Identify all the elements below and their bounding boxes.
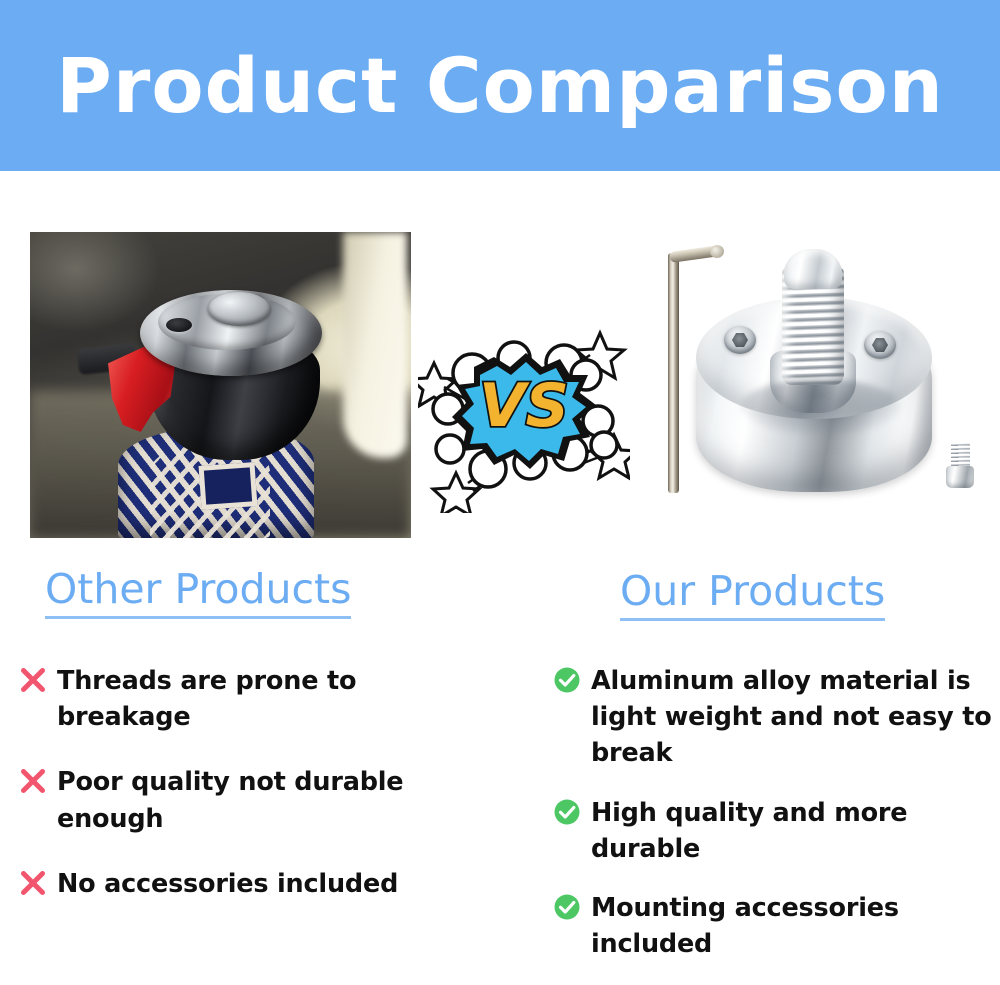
list-item: Aluminum alloy material is light weight … (552, 663, 1000, 772)
page-title: Product Comparison (56, 48, 944, 124)
vs-badge-label: VS (479, 371, 569, 441)
our-products-heading: Our Products (620, 571, 885, 621)
other-products-list: Threads are prone to breakage Poor quali… (18, 663, 488, 931)
mounting-bolt-head (946, 466, 974, 488)
cross-icon (18, 665, 48, 695)
list-item-label: Mounting accessories included (591, 890, 1000, 962)
check-icon (552, 892, 582, 922)
list-item-label: No accessories included (57, 866, 398, 902)
knob-top-button (208, 292, 270, 326)
list-item-label: High quality and more durable (591, 795, 1000, 867)
cloth-diamond-motif (199, 462, 258, 510)
allen-key-long-arm (668, 253, 679, 493)
list-item: Threads are prone to breakage (18, 663, 488, 735)
cross-icon (18, 766, 48, 796)
other-product-photo (30, 232, 411, 538)
other-products-heading: Other Products (45, 569, 351, 619)
hex-socket-screw-left (724, 326, 756, 354)
knob-screw-recess (166, 318, 192, 332)
cross-icon (18, 868, 48, 898)
hex-socket-screw-right (864, 331, 896, 359)
list-item: High quality and more durable (552, 795, 1000, 867)
list-item-label: Threads are prone to breakage (57, 663, 488, 735)
list-item-label: Poor quality not durable enough (57, 764, 488, 836)
allen-key-tip (709, 244, 725, 259)
adapter-stud-cap (784, 249, 842, 289)
comparison-area: VS Other Products Our Products Threads a… (0, 171, 1000, 909)
adapter-shadow-band (740, 379, 900, 435)
vs-label: VS (479, 371, 569, 441)
car-window (343, 232, 407, 458)
header-banner: Product Comparison (0, 0, 1000, 171)
list-item: Mounting accessories included (552, 890, 1000, 962)
list-item: No accessories included (18, 866, 488, 902)
list-item-label: Aluminum alloy material is light weight … (591, 663, 1000, 772)
our-products-list: Aluminum alloy material is light weight … (552, 663, 1000, 985)
vs-badge: VS (418, 323, 630, 513)
check-icon (552, 665, 582, 695)
check-icon (552, 797, 582, 827)
list-item: Poor quality not durable enough (18, 764, 488, 836)
our-product-photo (630, 231, 990, 541)
